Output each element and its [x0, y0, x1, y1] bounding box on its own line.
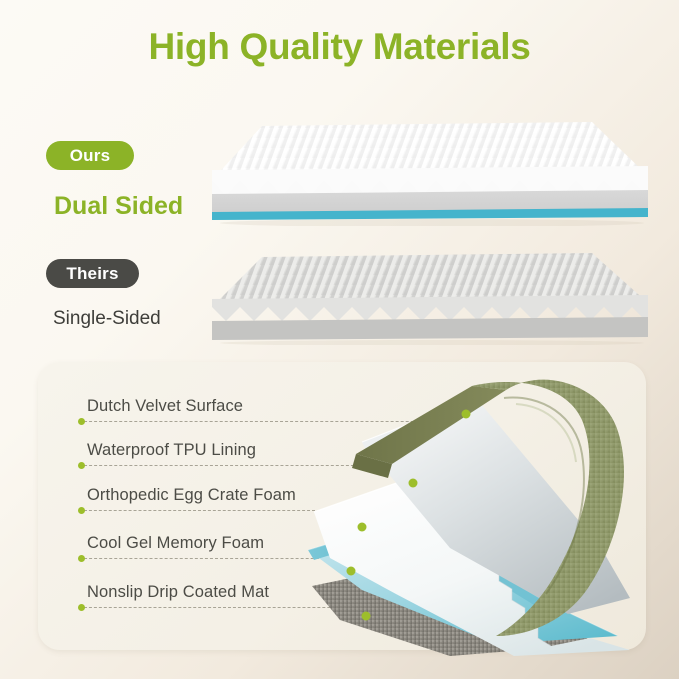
layer-label-2: Orthopedic Egg Crate Foam — [87, 486, 296, 505]
leader-dot — [78, 462, 85, 469]
leader-dot — [78, 604, 85, 611]
layer-label-3: Cool Gel Memory Foam — [87, 534, 264, 553]
page-title: High Quality Materials — [0, 26, 679, 68]
badge-theirs-label: Theirs — [66, 264, 118, 284]
layer-stack-illustration — [300, 368, 650, 658]
layer-label-4: Nonslip Drip Coated Mat — [87, 583, 269, 602]
layer-label-1: Waterproof TPU Lining — [87, 441, 256, 460]
leader-dot — [78, 555, 85, 562]
leader-line — [79, 510, 315, 511]
mattress-theirs-illustration — [200, 245, 648, 345]
stack-dot-mat — [362, 612, 371, 621]
leader-orthopedic-egg-crate-foam: Orthopedic Egg Crate Foam — [79, 503, 315, 519]
stack-dot-foam — [358, 523, 367, 532]
badge-ours: Ours — [46, 141, 134, 170]
layer-label-0: Dutch Velvet Surface — [87, 397, 243, 416]
badge-ours-label: Ours — [70, 146, 110, 166]
leader-dot — [78, 418, 85, 425]
infographic-root: High Quality Materials Ours Dual Sided — [0, 0, 679, 679]
leader-dot — [78, 507, 85, 514]
caption-theirs: Single-Sided — [53, 308, 161, 330]
stack-dot-gel — [347, 567, 356, 576]
badge-theirs: Theirs — [46, 259, 139, 288]
stack-dot-tpu — [409, 479, 418, 488]
caption-ours: Dual Sided — [54, 192, 183, 221]
stack-dot-velvet — [462, 410, 471, 419]
mattress-ours-illustration — [200, 108, 648, 226]
